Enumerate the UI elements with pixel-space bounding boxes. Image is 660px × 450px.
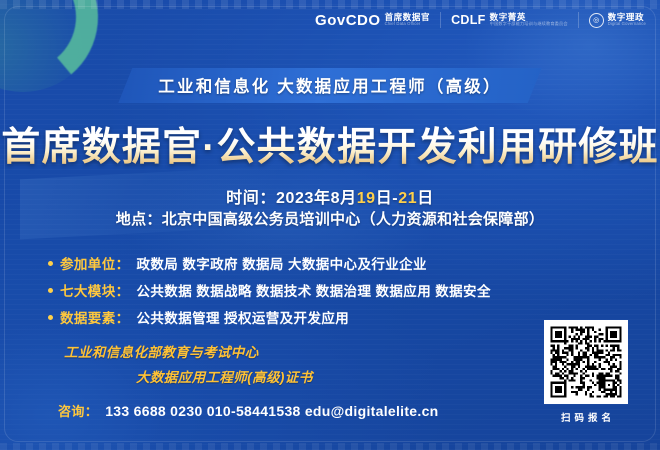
govcdo-chinese-name: 首席数据官 Chief Data Officer (385, 13, 431, 26)
certificate-line-2: 大数据应用工程师(高级)证书 (136, 366, 313, 386)
poster-root: GovCDO 首席数据官 Chief Data Officer CDLF 数字菁… (0, 0, 660, 450)
digital-governance-logo: ◎ 数字理政 Digital Governance (589, 13, 646, 28)
cdlf-wordmark: CDLF (451, 13, 486, 27)
cdlf-logo: CDLF 数字菁英 中国数字干部能力培训与继续教育委员会 (451, 13, 568, 27)
top-dot-strip (0, 0, 660, 9)
bullet-value: 政数局 数字政府 数据局 大数据中心及行业企业 (137, 253, 427, 273)
bullet-label: 参加单位： (60, 253, 130, 273)
bullet-dot-icon (48, 261, 53, 266)
event-time-day-start: 19 (357, 190, 376, 207)
list-item: 七大模块： 公共数据 数据战略 数据技术 数据治理 数据应用 数据安全 (48, 280, 491, 300)
logo-row: GovCDO 首席数据官 Chief Data Officer CDLF 数字菁… (315, 12, 646, 28)
contact-label: 咨询： (58, 401, 98, 420)
event-time-suffix: 日 (417, 190, 434, 207)
event-time-label: 时间： (226, 190, 276, 207)
logo-divider-1 (440, 12, 441, 28)
qr-block: 扫码报名 (544, 320, 628, 424)
bullet-label: 数据要素： (60, 307, 130, 327)
bullet-value: 公共数据 数据战略 数据技术 数据治理 数据应用 数据安全 (137, 280, 491, 300)
bullet-value: 公共数据管理 授权运营及开发应用 (137, 307, 350, 327)
logo-divider-2 (578, 12, 579, 28)
certificate-line-1: 工业和信息化部教育与考试中心 (64, 341, 313, 361)
bullet-dot-icon (48, 315, 53, 320)
list-item: 参加单位： 政数局 数字政府 数据局 大数据中心及行业企业 (48, 253, 491, 273)
subtitle-banner-wrap: 工业和信息化 大数据应用工程师（高级） (0, 68, 660, 103)
qr-code-image[interactable] (544, 320, 628, 404)
bottom-dot-strip (0, 443, 660, 450)
bullet-label: 七大模块： (60, 280, 130, 300)
certificate-block: 工业和信息化部教育与考试中心 大数据应用工程师(高级)证书 (64, 341, 313, 386)
list-item: 数据要素： 公共数据管理 授权运营及开发应用 (48, 307, 491, 327)
govcdo-cn-sub: Chief Data Officer (385, 22, 431, 26)
cdlf-cn-sub: 中国数字干部能力培训与继续教育委员会 (490, 22, 568, 26)
digital-governance-cn-sub: Digital Governance (608, 22, 646, 26)
event-time-line: 时间：2023年8月19日-21日 (0, 184, 660, 208)
govcdo-logo: GovCDO 首席数据官 Chief Data Officer (315, 13, 430, 28)
cdlf-chinese-name: 数字菁英 中国数字干部能力培训与继续教育委员会 (490, 13, 568, 26)
contact-value[interactable]: 133 6688 0230 010-58441538 edu@digitalel… (105, 403, 438, 419)
event-place-line: 地点：北京中国高级公务员培训中心（人力资源和社会保障部） (0, 208, 660, 229)
event-time-prefix: 2023年8月 (276, 190, 357, 207)
qr-caption: 扫码报名 (557, 410, 615, 424)
page-title: 首席数据官·公共数据开发利用研修班 (0, 116, 660, 172)
subtitle-banner: 工业和信息化 大数据应用工程师（高级） (118, 68, 541, 103)
digital-governance-chinese-name: 数字理政 Digital Governance (608, 13, 646, 26)
event-time-middle: 日- (376, 190, 399, 207)
contact-line: 咨询： 133 6688 0230 010-58441538 edu@digit… (58, 401, 439, 420)
event-time-day-end: 21 (398, 190, 417, 207)
circle-emblem-icon: ◎ (589, 13, 604, 28)
govcdo-wordmark: GovCDO (315, 13, 381, 28)
bullet-list: 参加单位： 政数局 数字政府 数据局 大数据中心及行业企业 七大模块： 公共数据… (48, 253, 491, 327)
bullet-dot-icon (48, 288, 53, 293)
subtitle-banner-text: 工业和信息化 大数据应用工程师（高级） (158, 78, 501, 96)
